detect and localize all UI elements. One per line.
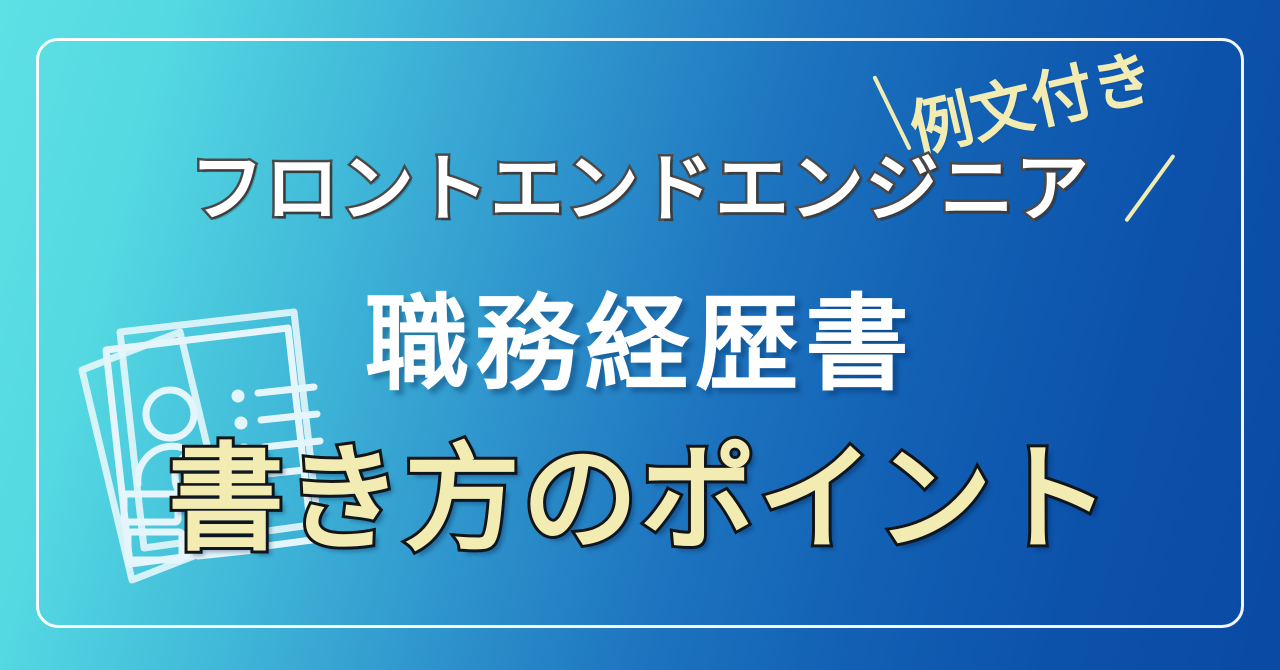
headline-subtitle: フロントエンドエンジニア	[0, 152, 1280, 226]
headline-accent: 書き方のポイント	[0, 442, 1280, 558]
headline-title: 職務経歴書	[0, 292, 1280, 396]
headline-group: フロントエンドエンジニア 職務経歴書 書き方のポイント	[0, 0, 1280, 670]
thumbnail-canvas: 例文付き	[0, 0, 1280, 670]
